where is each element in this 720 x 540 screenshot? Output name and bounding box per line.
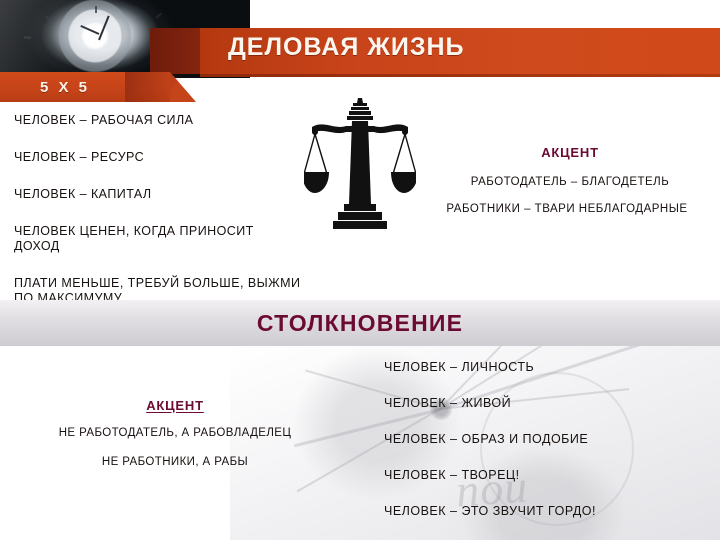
bottom-left-line-2: НЕ РАБОТНИКИ, А РАБЫ <box>30 456 320 468</box>
balance-scales-icon <box>304 96 416 230</box>
badge-label: 5 X 5 <box>40 79 90 96</box>
list-item: ЧЕЛОВЕК – ТВОРЕЦ! <box>384 468 720 483</box>
list-item: ЧЕЛОВЕК – РЕСУРС <box>14 150 354 165</box>
section-title: СТОЛКНОВЕНИЕ <box>0 310 720 337</box>
list-item: ЧЕЛОВЕК – ЖИВОЙ <box>384 396 720 411</box>
bottom-left-line-1: НЕ РАБОТОДАТЕЛЬ, А РАБОВЛАДЕЛЕЦ <box>24 427 326 439</box>
list-item: ЧЕЛОВЕК – КАПИТАЛ <box>14 187 354 202</box>
top-right-line-2: РАБОТНИКИ – ТВАРИ НЕБЛАГОДАРНЫЕ <box>414 203 720 215</box>
bottom-right-list: ЧЕЛОВЕК – ЛИЧНОСТЬ ЧЕЛОВЕК – ЖИВОЙ ЧЕЛОВ… <box>384 360 720 519</box>
list-item: ЧЕЛОВЕК – ЭТО ЗВУЧИТ ГОРДО! <box>384 504 720 519</box>
list-item: ЧЕЛОВЕК – ЛИЧНОСТЬ <box>384 360 720 375</box>
presentation-slide: ДЕЛОВАЯ ЖИЗНЬ 5 X 5 ЧЕЛОВЕК – РАБОЧАЯ СИ… <box>0 0 720 540</box>
accent-label-bottom: АКЦЕНТ <box>30 398 320 413</box>
badge-band-shadow <box>125 72 197 102</box>
top-left-list: ЧЕЛОВЕК – РАБОЧАЯ СИЛА ЧЕЛОВЕК – РЕСУРС … <box>14 113 354 306</box>
list-item: ЧЕЛОВЕК ЦЕНЕН, КОГДА ПРИНОСИТ ДОХОД <box>14 224 354 254</box>
page-title: ДЕЛОВАЯ ЖИЗНЬ <box>228 33 708 62</box>
title-band-underline <box>200 74 720 77</box>
list-item: ЧЕЛОВЕК – ОБРАЗ И ПОДОБИЕ <box>384 432 720 447</box>
list-item: ЧЕЛОВЕК – РАБОЧАЯ СИЛА <box>14 113 354 128</box>
top-right-line-1: РАБОТОДАТЕЛЬ – БЛАГОДЕТЕЛЬ <box>420 176 720 188</box>
accent-label-top: АКЦЕНТ <box>420 145 720 160</box>
